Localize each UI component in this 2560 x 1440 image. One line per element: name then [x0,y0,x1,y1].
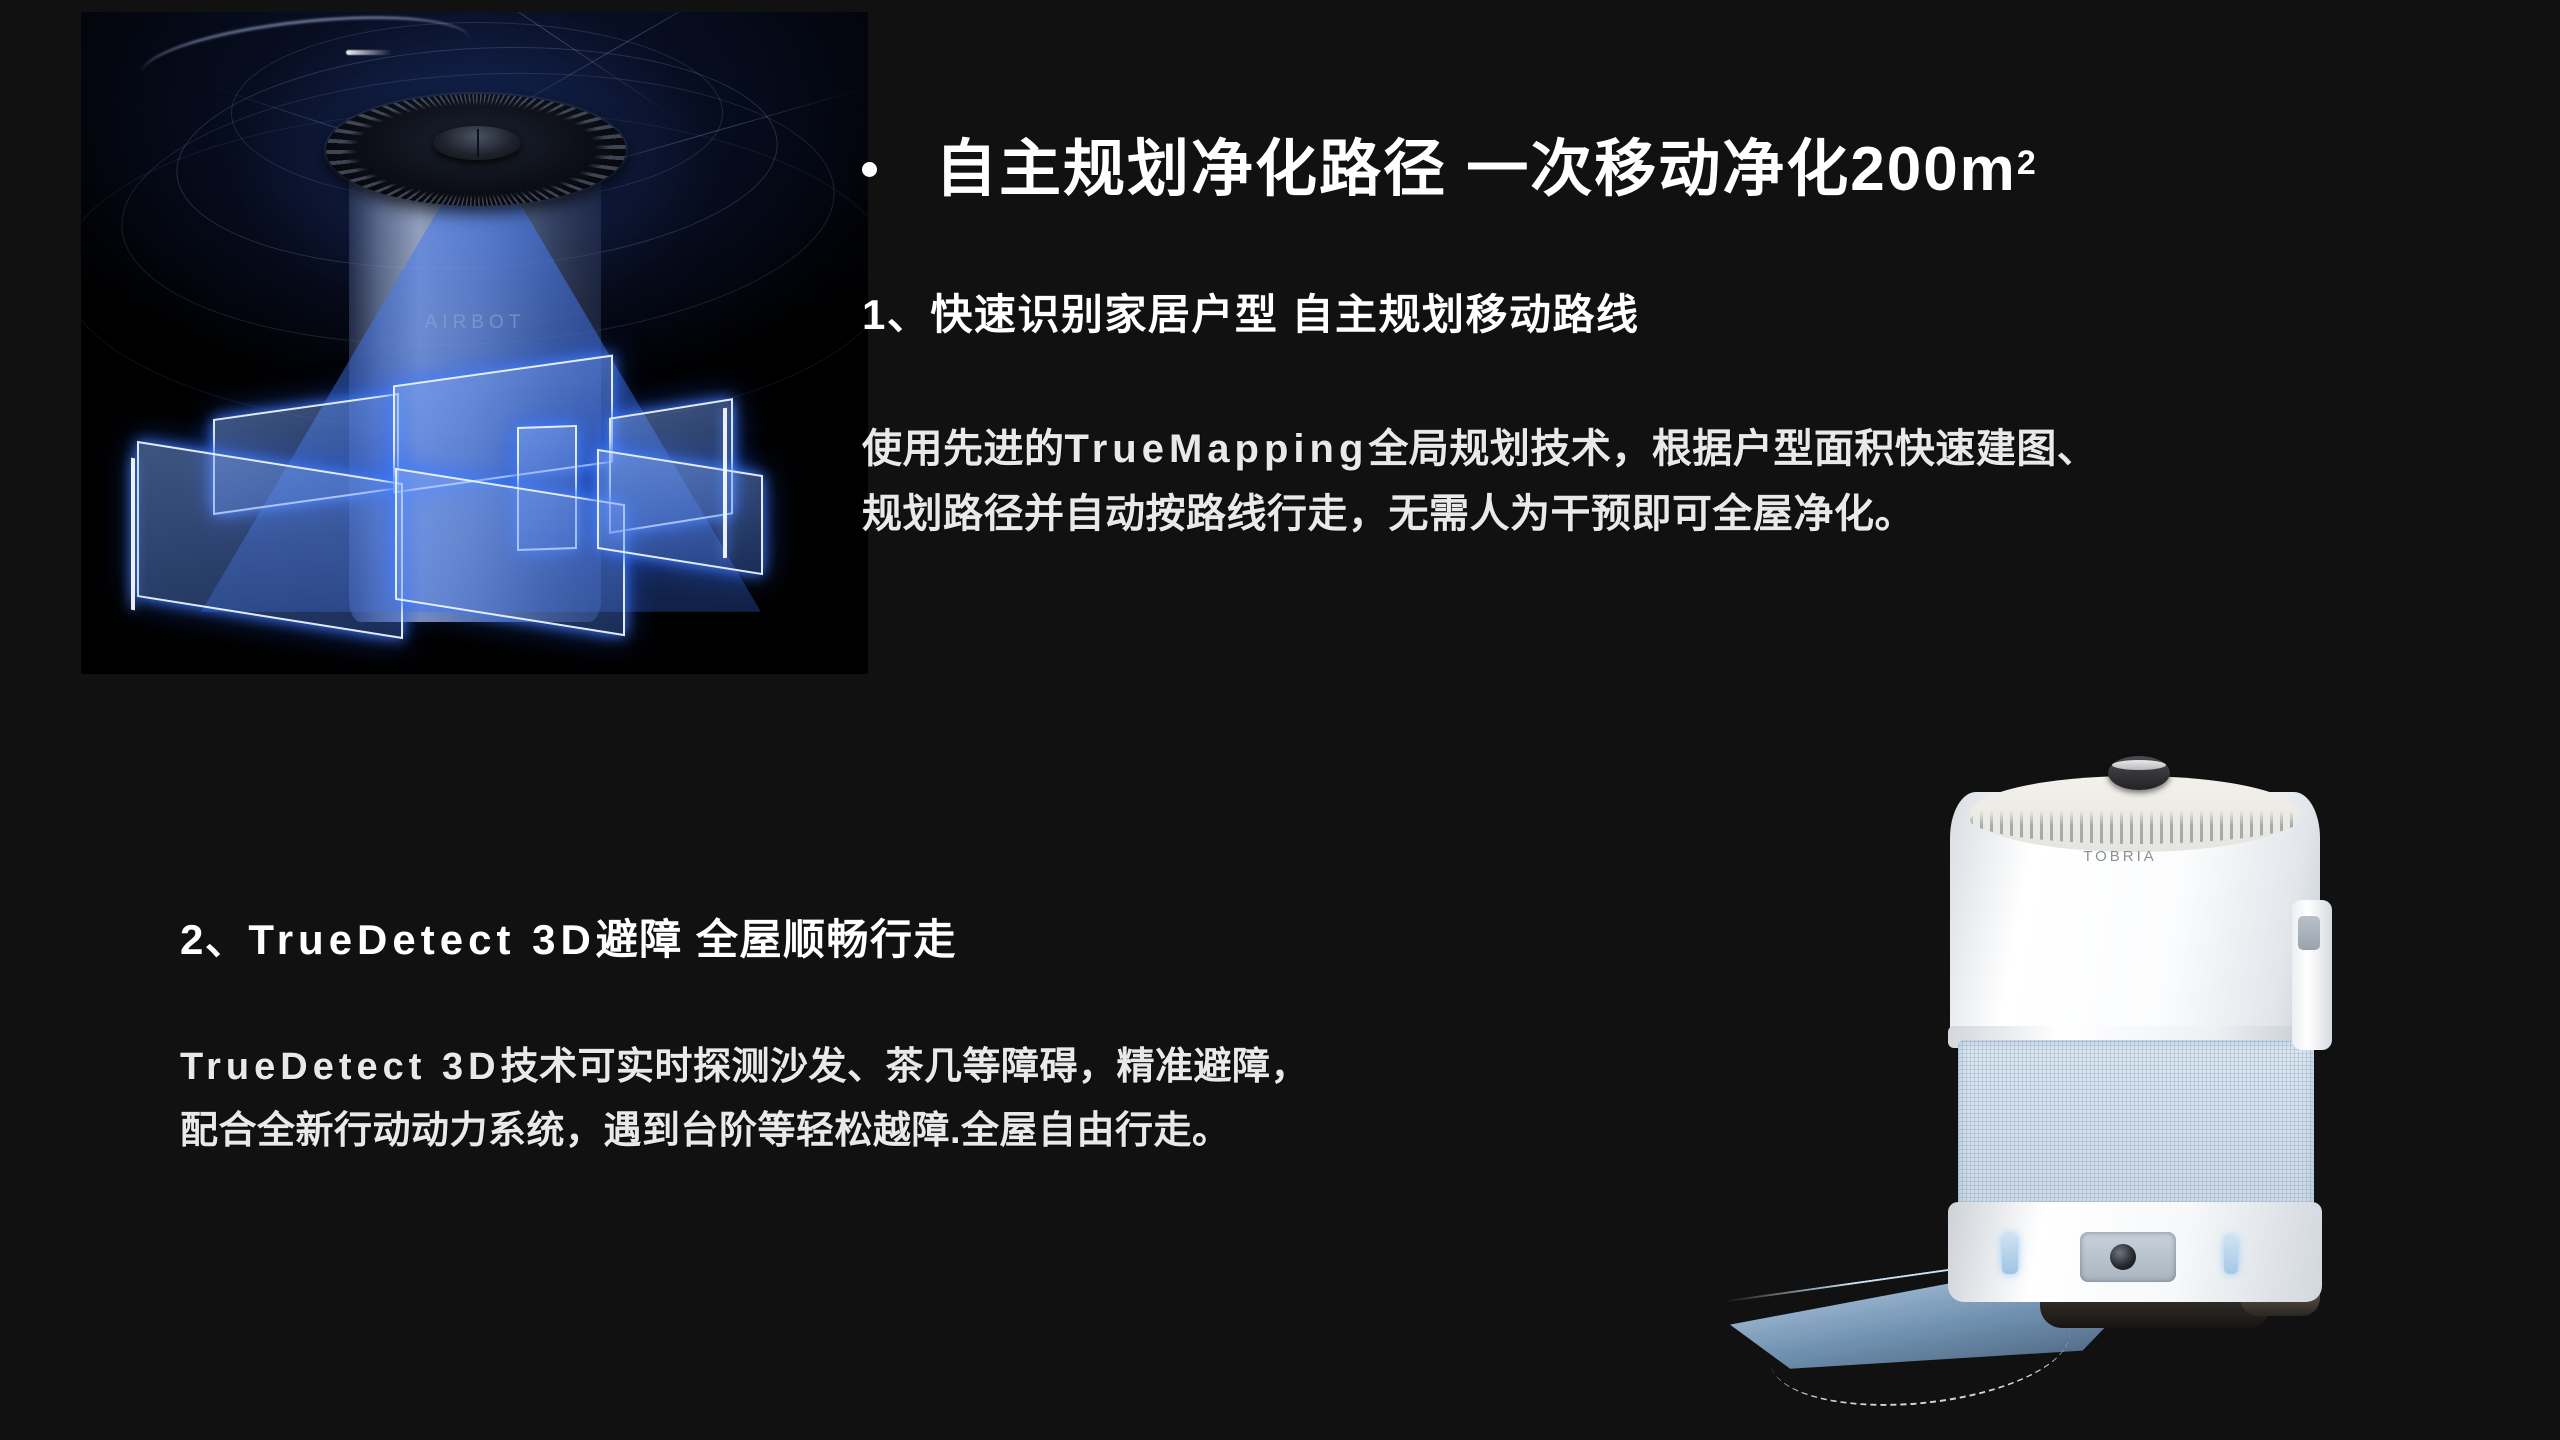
robot-side-handle [2292,900,2332,1050]
robot-sensor-light [2002,1234,2018,1274]
mapping-illustration: AIRBOT [81,12,868,674]
robot-air-vents [1970,796,2300,844]
section2-body-line2: 配合全新行动动力系统，遇到台阶等轻松越障.全屋自由行走。 [180,1100,1309,1164]
floorplan-wall [131,458,135,611]
light-streak [346,50,392,55]
product-brand-label: TOBRIA [1950,848,2290,865]
floorplan-room [395,468,625,636]
section1-body-line1-latin: TrueMapping [1065,427,1369,471]
section2-heading-latin: TrueDetect 3D [248,916,595,963]
section1-body-line1-pre: 使用先进的 [862,427,1065,471]
robot-sensor-light [2224,1236,2238,1274]
section2-body-line1-post: 技术可实时探测沙发、茶几等障碍，精准避障， [501,1046,1310,1088]
section2-heading: 2、TrueDetect 3D避障 全屋顺畅行走 [180,906,957,967]
bullet-dot-icon [862,162,877,177]
section2-body-line1-latin: TrueDetect 3D [180,1046,501,1088]
section2-body-line1: TrueDetect 3D技术可实时探测沙发、茶几等障碍，精准避障， [180,1036,1309,1100]
page-title-text: 自主规划净化路径 一次移动净化200m [935,118,2017,208]
section2-heading-suffix: 避障 全屋顺畅行走 [596,916,957,963]
section1-body: 使用先进的TrueMapping全局规划技术，根据户型面积快速建图、 规划路径并… [862,417,2097,547]
device-brand-label: AIRBOT [349,312,601,334]
lidar-turret-icon [433,126,521,160]
section1-body-line2: 规划路径并自动按路线行走，无需人为干预即可全屋净化。 [862,482,2097,547]
robot-lidar-knob-icon [2108,756,2170,790]
section1-heading: 1、快速识别家居户型 自主规划移动路线 [862,281,1640,342]
floorplan-wall [723,408,727,558]
page-title: 自主规划净化路径 一次移动净化200m 2 [862,118,2038,208]
section2-heading-prefix: 2、 [180,916,248,963]
section2-body: TrueDetect 3D技术可实时探测沙发、茶几等障碍，精准避障， 配合全新行… [180,1036,1309,1164]
robot-purifier-photo: TOBRIA [1940,740,2360,1340]
page-root: AIRBOT 自主规划净化路径 一次移动净化200m 2 1、快速识别家居户型 … [0,0,2560,1440]
unit-superscript: 2 [2017,144,2038,183]
robot-3d-camera-icon [2080,1232,2176,1282]
robot-filter-mesh [1958,1040,2314,1210]
section1-body-line1: 使用先进的TrueMapping全局规划技术，根据户型面积快速建图、 [862,417,2097,482]
section1-body-line1-post: 全局规划技术，根据户型面积快速建图、 [1368,427,2097,471]
holographic-floorplan [127,342,827,642]
